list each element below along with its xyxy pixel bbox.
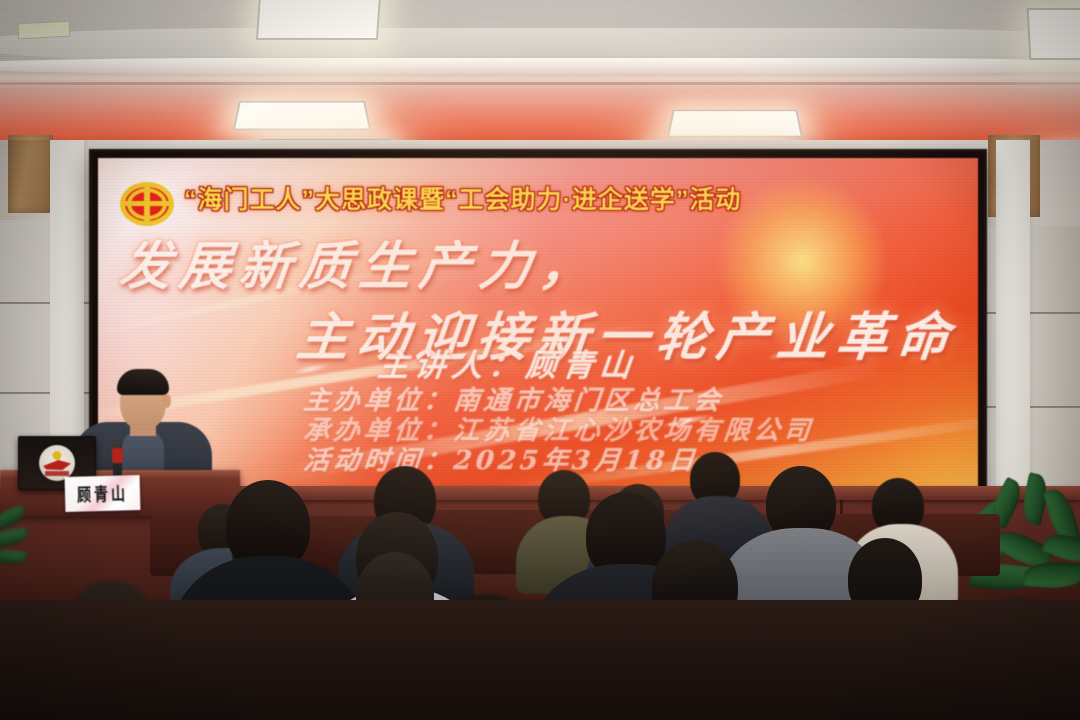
ceiling-red-glow (0, 64, 1080, 150)
recessed-panel-light (256, 0, 382, 40)
exit-sign (18, 21, 70, 40)
ceiling (0, 0, 1080, 150)
recessed-panel-light (667, 110, 803, 138)
ceiling-band (0, 28, 1080, 62)
acftu-union-emblem-icon (120, 182, 174, 226)
speaker-hair (117, 369, 169, 395)
event-headline: “海门工人”大思政课暨“工会助力·进企送学”活动 (184, 180, 944, 216)
speaker-line: 主讲人：顾青山 (376, 340, 640, 385)
conference-hall-photo: “海门工人”大思政课暨“工会助力·进企送学”活动 发展新质生产力， 主动迎接新一… (0, 0, 1080, 720)
speaker-ear (162, 394, 171, 408)
foreground-dark-area (0, 600, 1080, 720)
recessed-panel-light (1027, 8, 1080, 60)
event-title-line1: 发展新质生产力， (116, 236, 602, 297)
recessed-panel-light (233, 101, 372, 130)
